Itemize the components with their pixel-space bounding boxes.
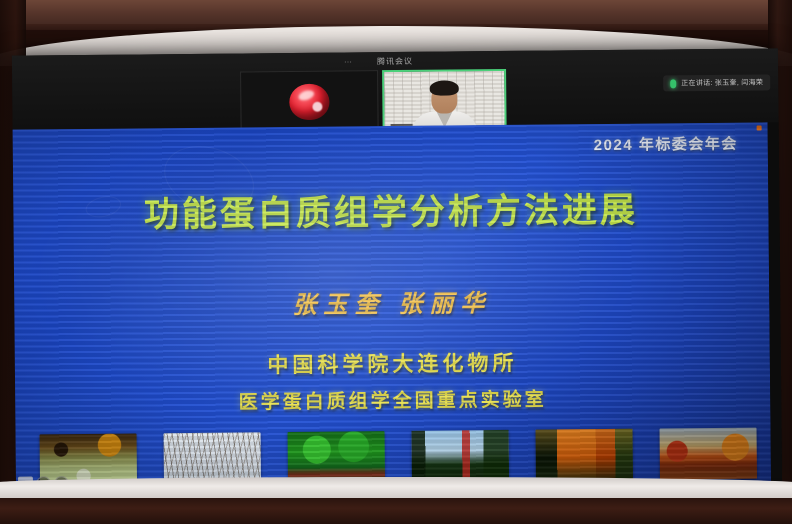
presentation-slide[interactable]: 2024 年标委会年会 功能蛋白质组学分析方法进展 张玉奎 张丽华 中国科学院大… <box>13 122 771 495</box>
slide-affiliation-1: 中国科学院大连化物所 <box>15 344 770 381</box>
slide-photo-summer <box>288 431 385 483</box>
meeting-app-title: 腾讯会议 <box>12 52 778 70</box>
slide-photo-lake <box>660 428 757 480</box>
slide-event-line: 2024 年标委会年会 <box>594 133 738 155</box>
slide-title: 功能蛋白质组学分析方法进展 <box>13 180 768 238</box>
avatar-image <box>289 84 329 120</box>
slide-affiliation-2: 医学蛋白质组学全国重点实验室 <box>15 382 770 416</box>
projected-display: ⋯ 腾讯会议 闫海荣 <box>12 48 782 495</box>
slide-photo-building <box>412 430 509 482</box>
slide-authors: 张玉奎 张丽华 <box>14 280 769 322</box>
microphone-icon <box>670 79 676 88</box>
speaking-indicator: 正在讲话: 张玉奎, 闫海荣 <box>663 74 770 91</box>
participant-tile-host[interactable]: 闫海荣 <box>240 70 379 130</box>
screenshot-root: ⋯ 腾讯会议 闫海荣 <box>0 0 792 524</box>
slide-photo-autumn <box>536 429 633 481</box>
speaking-indicator-label: 正在讲话: 张玉奎, 闫海荣 <box>681 77 763 88</box>
meeting-window-chrome: ⋯ 腾讯会议 闫海荣 <box>12 48 779 129</box>
room-lower-wall <box>0 498 792 524</box>
speaker-hair <box>430 80 459 95</box>
avatar-highlight <box>312 102 322 112</box>
participant-tile-speaker[interactable]: 张玉奎 <box>382 69 507 130</box>
recording-indicator-dot <box>757 125 762 130</box>
